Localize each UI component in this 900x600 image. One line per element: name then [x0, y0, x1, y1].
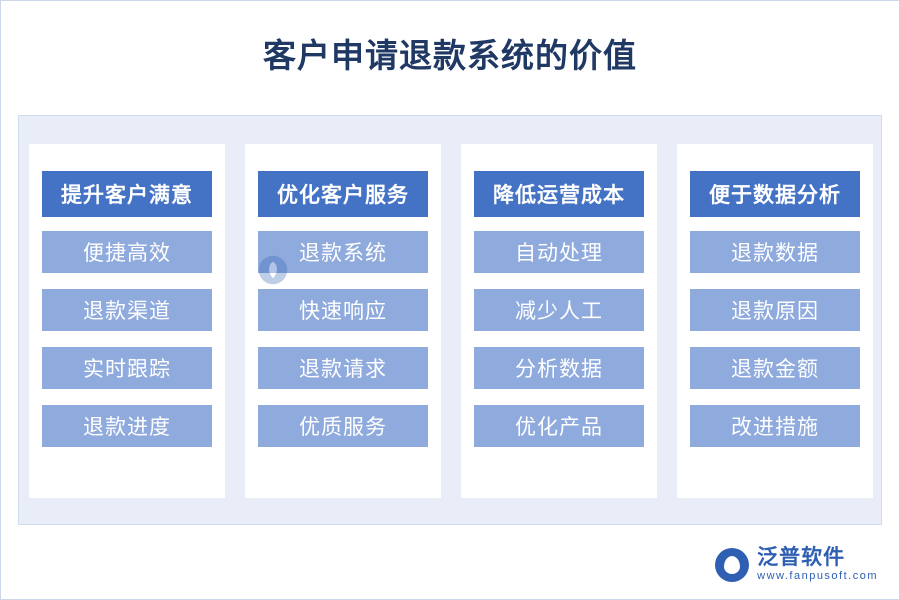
brand-logo-icon: [715, 548, 749, 582]
column-3-item-1: 自动处理: [474, 231, 644, 273]
column-1-header: 提升客户满意: [42, 171, 212, 217]
brand-logo: 泛普软件 www.fanpusoft.com: [715, 547, 878, 582]
column-2-item-1: 退款系统: [258, 231, 428, 273]
brand-name-en: www.fanpusoft.com: [757, 571, 878, 582]
column-1-item-1: 便捷高效: [42, 231, 212, 273]
column-4-item-2: 退款原因: [690, 289, 860, 331]
brand-logo-text: 泛普软件 www.fanpusoft.com: [757, 547, 878, 582]
column-2: 优化客户服务 退款系统 快速响应 退款请求 优质服务: [245, 144, 441, 498]
column-2-item-4: 优质服务: [258, 405, 428, 447]
column-4: 便于数据分析 退款数据 退款原因 退款金额 改进措施: [677, 144, 873, 498]
column-1: 提升客户满意 便捷高效 退款渠道 实时跟踪 退款进度: [29, 144, 225, 498]
page-title: 客户申请退款系统的价值: [0, 34, 900, 78]
diagram-panel: 提升客户满意 便捷高效 退款渠道 实时跟踪 退款进度 优化客户服务 退款系统 快…: [18, 115, 882, 525]
column-1-item-2: 退款渠道: [42, 289, 212, 331]
column-3-item-2: 减少人工: [474, 289, 644, 331]
column-4-item-4: 改进措施: [690, 405, 860, 447]
column-2-item-3: 退款请求: [258, 347, 428, 389]
column-3-item-4: 优化产品: [474, 405, 644, 447]
column-2-item-2: 快速响应: [258, 289, 428, 331]
column-4-item-3: 退款金额: [690, 347, 860, 389]
column-4-item-1: 退款数据: [690, 231, 860, 273]
column-3-item-3: 分析数据: [474, 347, 644, 389]
column-1-item-4: 退款进度: [42, 405, 212, 447]
column-3-header: 降低运营成本: [474, 171, 644, 217]
column-2-header: 优化客户服务: [258, 171, 428, 217]
brand-name-cn: 泛普软件: [757, 547, 878, 568]
columns-container: 提升客户满意 便捷高效 退款渠道 实时跟踪 退款进度 优化客户服务 退款系统 快…: [19, 116, 883, 526]
column-3: 降低运营成本 自动处理 减少人工 分析数据 优化产品: [461, 144, 657, 498]
column-4-header: 便于数据分析: [690, 171, 860, 217]
column-1-item-3: 实时跟踪: [42, 347, 212, 389]
